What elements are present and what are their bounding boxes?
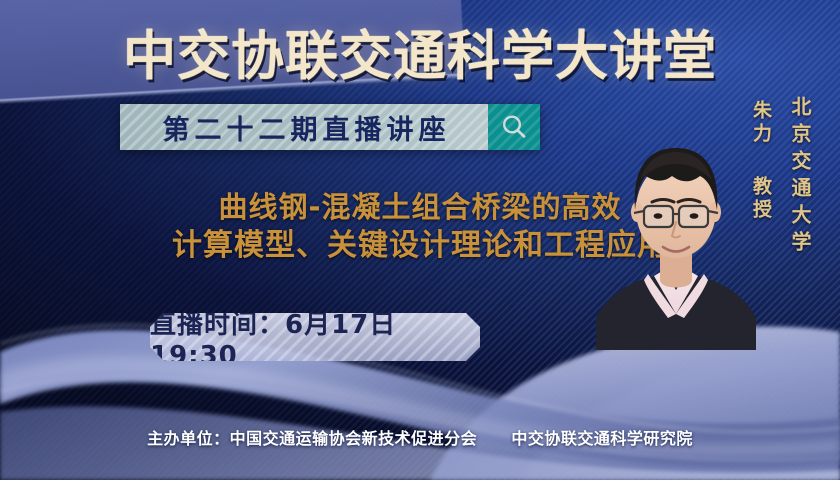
episode-banner: 第二十二期直播讲座 xyxy=(120,104,540,150)
broadcast-time-badge: 直播时间：6月17日19:30 xyxy=(150,313,480,361)
episode-banner-label-area: 第二十二期直播讲座 xyxy=(120,104,488,150)
speaker-photo xyxy=(596,118,756,350)
footer-organizers: 主办单位：中国交通运输协会新技术促进分会 中交协联交通科学研究院 xyxy=(0,425,840,449)
live-stream-poster: 中交协联交通科学大讲堂 第二十二期直播讲座 曲线钢-混凝土组合桥梁的高效 计算模… xyxy=(0,0,840,480)
episode-label: 第二十二期直播讲座 xyxy=(158,108,451,147)
footer-organizer-primary: 主办单位：中国交通运输协会新技术促进分会 xyxy=(147,429,477,448)
speaker-rank: 教授 xyxy=(748,176,775,222)
speaker-name: 朱力 xyxy=(748,100,775,146)
footer-organizer-secondary: 中交协联交通科学研究院 xyxy=(511,429,693,448)
search-icon[interactable] xyxy=(488,104,540,150)
speaker-university: 北京交通大学 xyxy=(786,96,815,258)
page-title: 中交协联交通科学大讲堂 xyxy=(0,14,840,90)
broadcast-time-label: 直播时间：6月17日19:30 xyxy=(150,313,480,361)
